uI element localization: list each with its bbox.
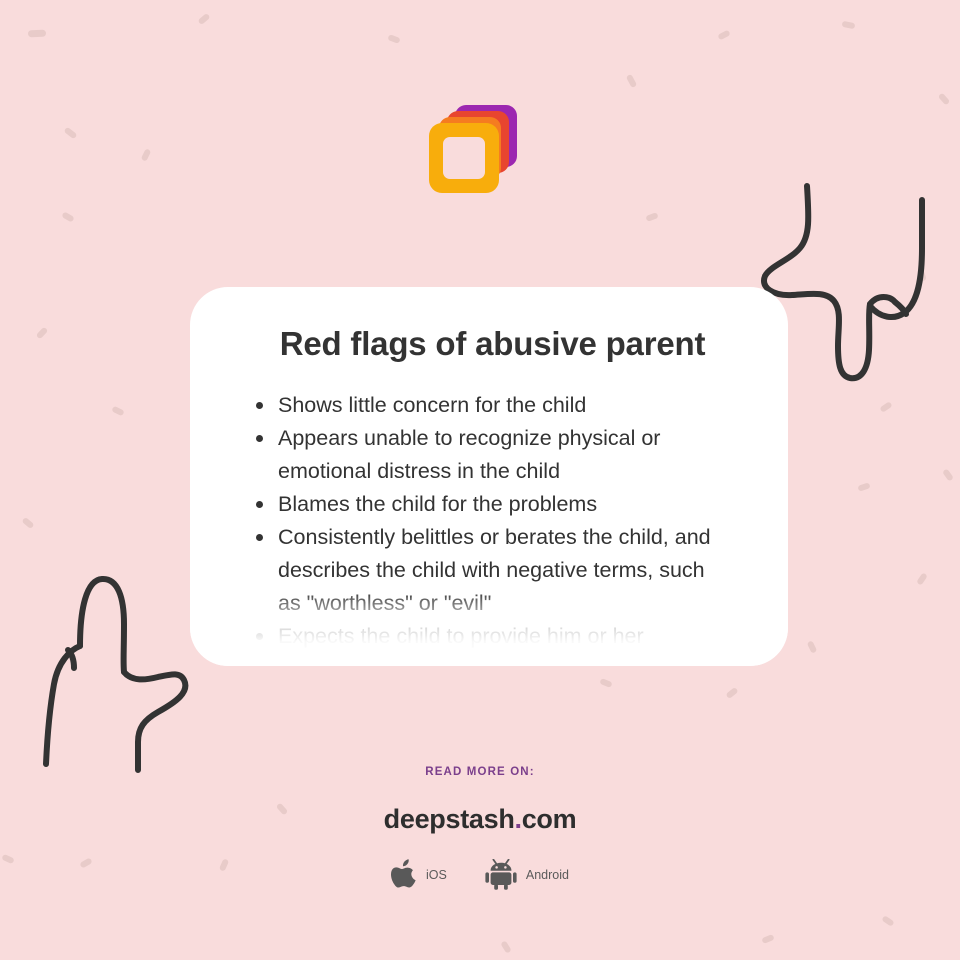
ios-badge[interactable]: iOS: [391, 859, 447, 890]
confetti-speck: [725, 687, 738, 699]
logo-inner-cutout: [443, 137, 485, 179]
confetti-speck: [857, 482, 870, 491]
confetti-speck: [111, 406, 124, 417]
confetti-speck: [645, 212, 658, 222]
read-more-label: READ MORE ON:: [0, 766, 960, 778]
page-title: Red flags of abusive parent: [237, 325, 748, 363]
list-item: Shows little concern for the child: [256, 389, 726, 422]
confetti-speck: [881, 915, 894, 927]
confetti-speck: [879, 401, 892, 413]
idea-card[interactable]: Red flags of abusive parent Shows little…: [190, 287, 788, 666]
confetti-speck: [197, 13, 210, 25]
red-flags-list: Shows little concern for the child Appea…: [190, 389, 788, 653]
android-icon: [485, 859, 517, 890]
confetti-speck: [842, 21, 856, 30]
confetti-speck: [500, 940, 511, 953]
confetti-speck: [717, 30, 730, 41]
app-store-badges: iOS: [0, 859, 960, 890]
list-item: Consistently belittles or berates the ch…: [256, 521, 726, 620]
confetti-speck: [28, 30, 46, 38]
confetti-speck: [141, 148, 152, 161]
confetti-speck: [938, 93, 950, 106]
confetti-speck: [387, 34, 400, 44]
confetti-speck: [942, 468, 954, 481]
deepstash-logo: [429, 105, 517, 193]
confetti-speck: [761, 934, 774, 944]
confetti-speck: [21, 517, 34, 529]
poster-canvas: Red flags of abusive parent Shows little…: [0, 0, 960, 960]
confetti-speck: [64, 127, 78, 140]
confetti-speck: [807, 640, 818, 653]
list-item: Blames the child for the problems: [256, 488, 726, 521]
list-item: Expects the child to provide him or her: [256, 620, 726, 653]
pointing-up-hand-doodle: [28, 562, 200, 774]
confetti-speck: [916, 572, 928, 585]
android-label: Android: [526, 868, 569, 882]
brand-wordmark[interactable]: deepstash.com: [0, 804, 960, 835]
confetti-speck: [599, 678, 612, 688]
confetti-speck: [626, 74, 637, 88]
brand-dot: .: [515, 804, 522, 834]
android-badge[interactable]: Android: [485, 859, 569, 890]
brand-name: deepstash: [384, 804, 515, 834]
apple-icon: [391, 859, 417, 890]
confetti-speck: [36, 327, 49, 340]
brand-tld: com: [522, 804, 577, 834]
footer: READ MORE ON: deepstash.com iOS: [0, 766, 960, 890]
list-item: Appears unable to recognize physical or …: [256, 422, 726, 488]
ios-label: iOS: [426, 868, 447, 882]
confetti-speck: [61, 211, 74, 222]
